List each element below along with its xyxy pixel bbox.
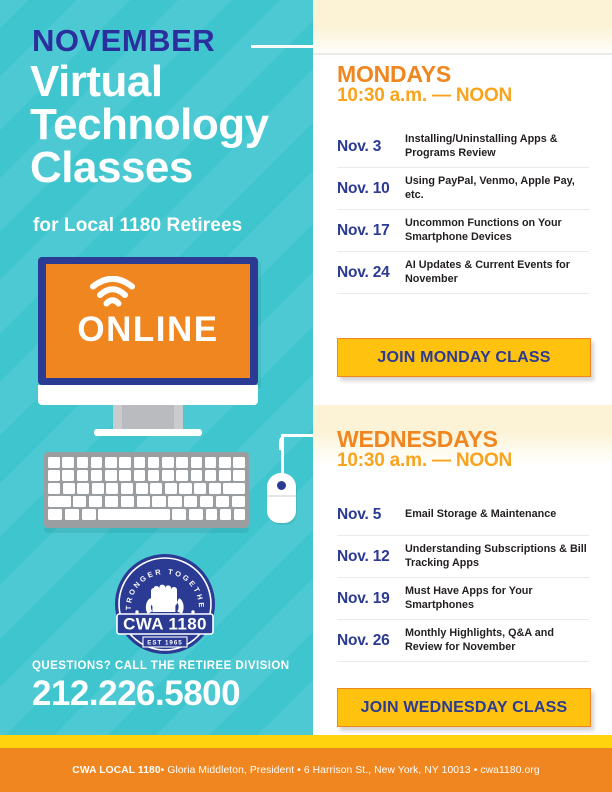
class-date: Nov. 5 — [337, 506, 405, 524]
keyboard-key — [179, 483, 191, 494]
keyboard-row — [48, 496, 245, 507]
section-time-mondays: 10:30 a.m. — NOON — [337, 86, 512, 106]
svg-text:CWA 1180: CWA 1180 — [123, 615, 207, 634]
table-row[interactable]: Nov. 17 Uncommon Functions on Your Smart… — [337, 210, 589, 252]
keyboard-key — [162, 470, 174, 481]
keyboard-shadow — [44, 528, 249, 533]
keyboard-key — [194, 483, 206, 494]
keyboard-key — [77, 470, 89, 481]
keyboard-key — [206, 509, 217, 520]
page-title: Virtual Technology Classes — [30, 60, 313, 189]
section-day-mondays: MONDAYS — [337, 62, 512, 86]
keyboard-key — [168, 496, 181, 507]
keyboard-key — [205, 457, 217, 468]
mouse-cord — [281, 434, 284, 474]
table-row[interactable]: Nov. 10 Using PayPal, Venmo, Apple Pay, … — [337, 168, 589, 210]
keyboard-key — [134, 457, 146, 468]
section-time-wednesdays: 10:30 a.m. — NOON — [337, 451, 512, 471]
keyboard-key — [65, 509, 79, 520]
keyboard-key — [91, 457, 103, 468]
keyboard-key — [105, 457, 117, 468]
keyboard-key — [105, 470, 117, 481]
keyboard-key — [205, 470, 217, 481]
keyboard-key — [63, 483, 75, 494]
page-title-month: NOVEMBER — [32, 25, 215, 56]
keyboard-key — [219, 457, 231, 468]
right-schedule-column: MONDAYS 10:30 a.m. — NOON Nov. 3 Install… — [313, 0, 612, 735]
join-wednesday-class-button[interactable]: JOIN WEDNESDAY CLASS — [337, 688, 591, 727]
keyboard-key — [77, 457, 89, 468]
class-date: Nov. 24 — [337, 264, 405, 282]
class-date: Nov. 12 — [337, 548, 405, 566]
header-rule — [251, 45, 313, 48]
class-topic: AI Updates & Current Events for November — [405, 259, 589, 287]
section-day-wednesdays: WEDNESDAYS — [337, 427, 512, 451]
keyboard-key — [150, 483, 162, 494]
flyer-page: NOVEMBER Virtual Technology Classes for … — [0, 0, 612, 792]
class-topic: Email Storage & Maintenance — [405, 508, 589, 522]
footer-text: CWA LOCAL 1180 • Gloria Middleton, Presi… — [0, 748, 612, 792]
keyboard-key — [121, 483, 133, 494]
keyboard-key — [48, 457, 60, 468]
class-topic: Using PayPal, Venmo, Apple Pay, etc. — [405, 175, 589, 203]
class-date: Nov. 10 — [337, 180, 405, 198]
keyboard-key — [137, 496, 150, 507]
footer-details: • Gloria Middleton, President • 6 Harris… — [161, 765, 540, 776]
class-date: Nov. 19 — [337, 590, 405, 608]
monitor-base — [94, 429, 202, 436]
keyboard-key — [152, 496, 165, 507]
table-row[interactable]: Nov. 26 Monthly Highlights, Q&A and Revi… — [337, 620, 589, 662]
keyboard-key — [219, 470, 231, 481]
keyboard-key — [48, 483, 60, 494]
keyboard-key — [200, 496, 213, 507]
keyboard-key — [232, 496, 245, 507]
keyboard-key — [62, 457, 74, 468]
keyboard-key — [220, 509, 231, 520]
keyboard-key — [148, 470, 160, 481]
monitor-bezel-bottom — [38, 385, 258, 405]
class-topic: Installing/Uninstalling Apps & Programs … — [405, 133, 589, 161]
keyboard-key — [89, 496, 102, 507]
keyboard-key — [48, 496, 71, 507]
keyboard-key — [105, 496, 118, 507]
section-title-mondays: MONDAYS 10:30 a.m. — NOON — [337, 62, 512, 107]
page-subtitle: for Local 1180 Retirees — [33, 215, 242, 237]
monday-class-list: Nov. 3 Installing/Uninstalling Apps & Pr… — [337, 126, 589, 294]
keyboard-key — [191, 457, 203, 468]
monday-header-band — [313, 0, 612, 60]
keyboard-key — [209, 483, 221, 494]
keyboard-key — [134, 470, 146, 481]
wifi-icon — [90, 276, 135, 308]
keyboard-row — [48, 457, 245, 468]
wednesday-class-list: Nov. 5 Email Storage & Maintenance Nov. … — [337, 494, 589, 662]
keyboard-row — [48, 470, 245, 481]
join-monday-class-button[interactable]: JOIN MONDAY CLASS — [337, 338, 591, 377]
keyboard-key — [165, 483, 177, 494]
keyboard-key — [119, 457, 131, 468]
class-date: Nov. 17 — [337, 222, 405, 240]
keyboard-key — [77, 483, 89, 494]
keyboard-key — [73, 496, 86, 507]
keyboard-key — [98, 509, 169, 520]
keyboard-key — [233, 470, 245, 481]
keyboard-key — [48, 509, 62, 520]
class-topic: Understanding Subscriptions & Bill Track… — [405, 543, 589, 571]
keyboard-key — [136, 483, 148, 494]
keyboard-key — [234, 509, 245, 520]
cwa-1180-logo: STRONGER TOGETHER CWA 1180 EST 1965 — [113, 552, 217, 656]
keyboard-key — [121, 496, 134, 507]
keyboard-key — [92, 483, 104, 494]
page-title-line-1: Virtual — [30, 60, 313, 103]
keyboard-key — [91, 470, 103, 481]
footer-org: CWA LOCAL 1180 — [72, 765, 160, 776]
keyboard-key — [172, 509, 186, 520]
class-topic: Uncommon Functions on Your Smartphone De… — [405, 217, 589, 245]
svg-text:EST 1965: EST 1965 — [147, 640, 183, 647]
page-title-line-2: Technology — [30, 103, 313, 146]
keyboard-key — [82, 509, 96, 520]
keyboard-key — [106, 483, 118, 494]
table-row[interactable]: Nov. 5 Email Storage & Maintenance — [337, 494, 589, 536]
class-date: Nov. 3 — [337, 138, 405, 156]
keyboard-key — [184, 496, 197, 507]
keyboard-key — [162, 457, 174, 468]
page-title-line-3: Classes — [30, 146, 313, 189]
keyboard-key — [176, 457, 188, 468]
left-teal-panel: NOVEMBER Virtual Technology Classes for … — [0, 0, 313, 735]
keyboard-row — [48, 509, 245, 520]
keyboard-key — [176, 470, 188, 481]
phone-number[interactable]: 212.226.5800 — [32, 675, 240, 714]
mouse-scroll-wheel — [277, 481, 286, 490]
keyboard-row — [48, 483, 245, 494]
table-row[interactable]: Nov. 19 Must Have Apps for Your Smartpho… — [337, 578, 589, 620]
keyboard-key — [233, 457, 245, 468]
footer-accent-bar — [0, 735, 612, 748]
class-topic: Must Have Apps for Your Smartphones — [405, 585, 589, 613]
table-row[interactable]: Nov. 24 AI Updates & Current Events for … — [337, 252, 589, 294]
screen-label: ONLINE — [38, 310, 258, 350]
monitor-stand-inner — [122, 405, 174, 429]
keyboard-key — [189, 509, 203, 520]
monday-header-rule — [313, 53, 612, 55]
class-topic: Monthly Highlights, Q&A and Review for N… — [405, 627, 589, 655]
keyboard-key — [148, 457, 160, 468]
table-row[interactable]: Nov. 3 Installing/Uninstalling Apps & Pr… — [337, 126, 589, 168]
keyboard-key — [48, 470, 60, 481]
keyboard-key — [191, 470, 203, 481]
keyboard-key — [223, 483, 245, 494]
table-row[interactable]: Nov. 12 Understanding Subscriptions & Bi… — [337, 536, 589, 578]
keyboard-key — [62, 470, 74, 481]
mouse-button-divider — [267, 495, 296, 497]
section-title-wednesdays: WEDNESDAYS 10:30 a.m. — NOON — [337, 427, 512, 472]
keyboard-icon — [44, 452, 249, 528]
keyboard-key — [216, 496, 229, 507]
questions-label: QUESTIONS? CALL THE RETIREE DIVISION — [32, 660, 290, 672]
class-date: Nov. 26 — [337, 632, 405, 650]
keyboard-key — [119, 470, 131, 481]
